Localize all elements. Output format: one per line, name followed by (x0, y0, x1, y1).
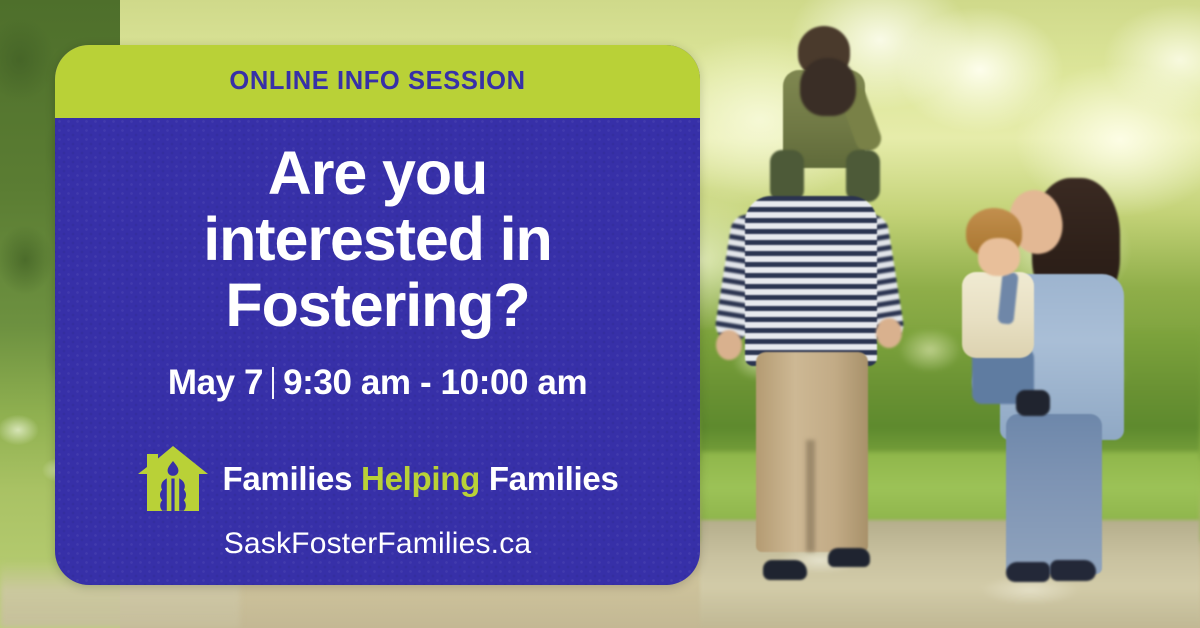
photo-man-hand-right (876, 318, 902, 348)
wordmark-families-1: Families (223, 460, 353, 497)
session-date: May 7 (168, 363, 263, 403)
info-card: ONLINE INFO SESSION Are you interested i… (55, 45, 700, 585)
session-datetime: May 7 9:30 am - 10:00 am (168, 363, 587, 403)
session-time-range: 9:30 am - 10:00 am (283, 363, 587, 403)
page-title: Are you interested in Fostering? (203, 118, 551, 339)
photo-man-shoe-right (828, 548, 870, 567)
headline-line-2: interested in (203, 206, 551, 272)
photo-woman-shoe-right (1050, 560, 1096, 581)
photo-man-hand-left (716, 330, 742, 360)
datetime-separator (272, 367, 274, 399)
wordmark-families-2: Families (489, 460, 619, 497)
eyebrow-banner: ONLINE INFO SESSION (55, 45, 700, 118)
organization-wordmark: Families Helping Families (223, 460, 619, 498)
organization-logo: Families Helping Families (137, 445, 619, 513)
eyebrow-label: ONLINE INFO SESSION (229, 67, 525, 96)
promo-poster: ONLINE INFO SESSION Are you interested i… (0, 0, 1200, 628)
photo-boy-leg-right (846, 150, 880, 202)
photo-woman-shoe-left (1006, 562, 1050, 582)
photo-man-head (800, 58, 856, 116)
headline-line-3: Fostering? (203, 272, 551, 338)
photo-boy-leg-left (770, 150, 804, 202)
photo-man-leg-gap (806, 440, 815, 552)
photo-woman-jeans (1006, 414, 1102, 574)
house-with-family-icon (137, 445, 209, 513)
photo-toddler-face (978, 238, 1020, 276)
headline-line-1: Are you (203, 140, 551, 206)
wordmark-helping: Helping (361, 460, 480, 497)
photo-toddler-shoe (1016, 390, 1050, 416)
photo-man-striped-shirt (745, 196, 877, 366)
card-body: Are you interested in Fostering? May 7 9… (55, 118, 700, 585)
website-url[interactable]: SaskFosterFamilies.ca (224, 527, 532, 561)
photo-man-shoe-left (763, 560, 807, 580)
